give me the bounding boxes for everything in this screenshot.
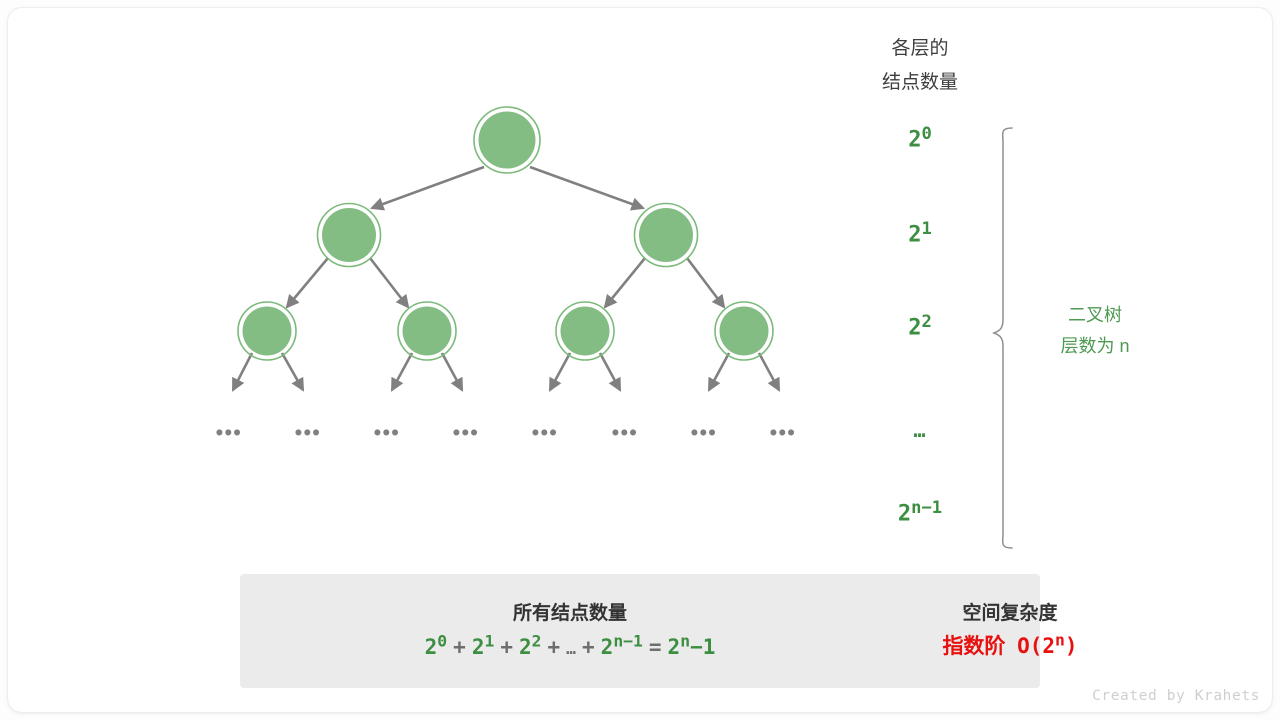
complexity-value: 指数阶 O(2n): [860, 630, 1160, 660]
level-count-last-base: 2: [898, 502, 911, 527]
level-count-ellipsis: …: [840, 418, 1000, 442]
formula-term-ellipsis: …: [566, 639, 576, 658]
formula-plus: +: [582, 635, 595, 659]
complexity-prefix: 指数阶: [942, 635, 1005, 658]
complexity-title: 空间复杂度: [860, 598, 1160, 625]
leaf-ellipsis: •••: [374, 423, 401, 444]
level-count-2: 22: [840, 312, 1000, 341]
brace-annotation: 二叉树 层数为 n: [1015, 300, 1175, 362]
level-count-2-exp: 2: [921, 312, 931, 332]
level-count-0-exp: 0: [921, 124, 931, 144]
tree-nodes: [238, 107, 773, 360]
level-count-1-base: 2: [908, 223, 921, 248]
credit-label: Created by Krahets: [1092, 688, 1260, 704]
level-count-1-exp: 1: [921, 219, 931, 239]
complexity-big-o: O(2n): [1017, 634, 1077, 658]
column-header: 各层的 结点数量: [838, 32, 1002, 100]
leaf-ellipsis: •••: [453, 423, 480, 444]
formula-term-1: 21: [472, 635, 495, 659]
leaf-ellipsis: •••: [216, 423, 243, 444]
diagram-canvas: 各层的 结点数量 20 21 22 … 2n−1 二叉树 层数为 n ••• •…: [0, 0, 1280, 720]
level-count-0: 20: [840, 124, 1000, 153]
brace-annotation-line2: 层数为 n: [1015, 331, 1175, 362]
level-count-last: 2n−1: [840, 498, 1000, 527]
formula-plus: +: [453, 635, 466, 659]
formula-term-2: 22: [519, 635, 542, 659]
brace-annotation-line1: 二叉树: [1015, 300, 1175, 331]
level-count-0-base: 2: [908, 128, 921, 153]
formula-term-0: 20: [425, 635, 448, 659]
column-header-line1: 各层的: [838, 32, 1002, 66]
level-count-2-base: 2: [908, 316, 921, 341]
leaf-ellipsis: •••: [770, 423, 797, 444]
leaf-ellipsis: •••: [532, 423, 559, 444]
leaf-ellipsis: •••: [691, 423, 718, 444]
formula-result: 2n−1: [668, 635, 716, 659]
level-count-1: 21: [840, 219, 1000, 248]
formula-equals: =: [649, 635, 662, 659]
leaf-ellipsis: •••: [612, 423, 639, 444]
level-count-ellipsis-base: …: [913, 418, 926, 442]
summary-panel: 所有结点数量 空间复杂度 20+21+22+…+2n−1=2n−1 指数阶 O(…: [240, 574, 1040, 688]
level-count-last-exp: n−1: [911, 498, 942, 518]
formula-title: 所有结点数量: [300, 598, 840, 625]
formula-plus: +: [548, 635, 561, 659]
formula-plus: +: [500, 635, 513, 659]
leaf-ellipsis: •••: [295, 423, 322, 444]
formula-term-last: 2n−1: [601, 635, 643, 659]
node-count-formula: 20+21+22+…+2n−1=2n−1: [270, 632, 870, 659]
tree-edges: [233, 167, 779, 390]
column-header-line2: 结点数量: [838, 66, 1002, 100]
